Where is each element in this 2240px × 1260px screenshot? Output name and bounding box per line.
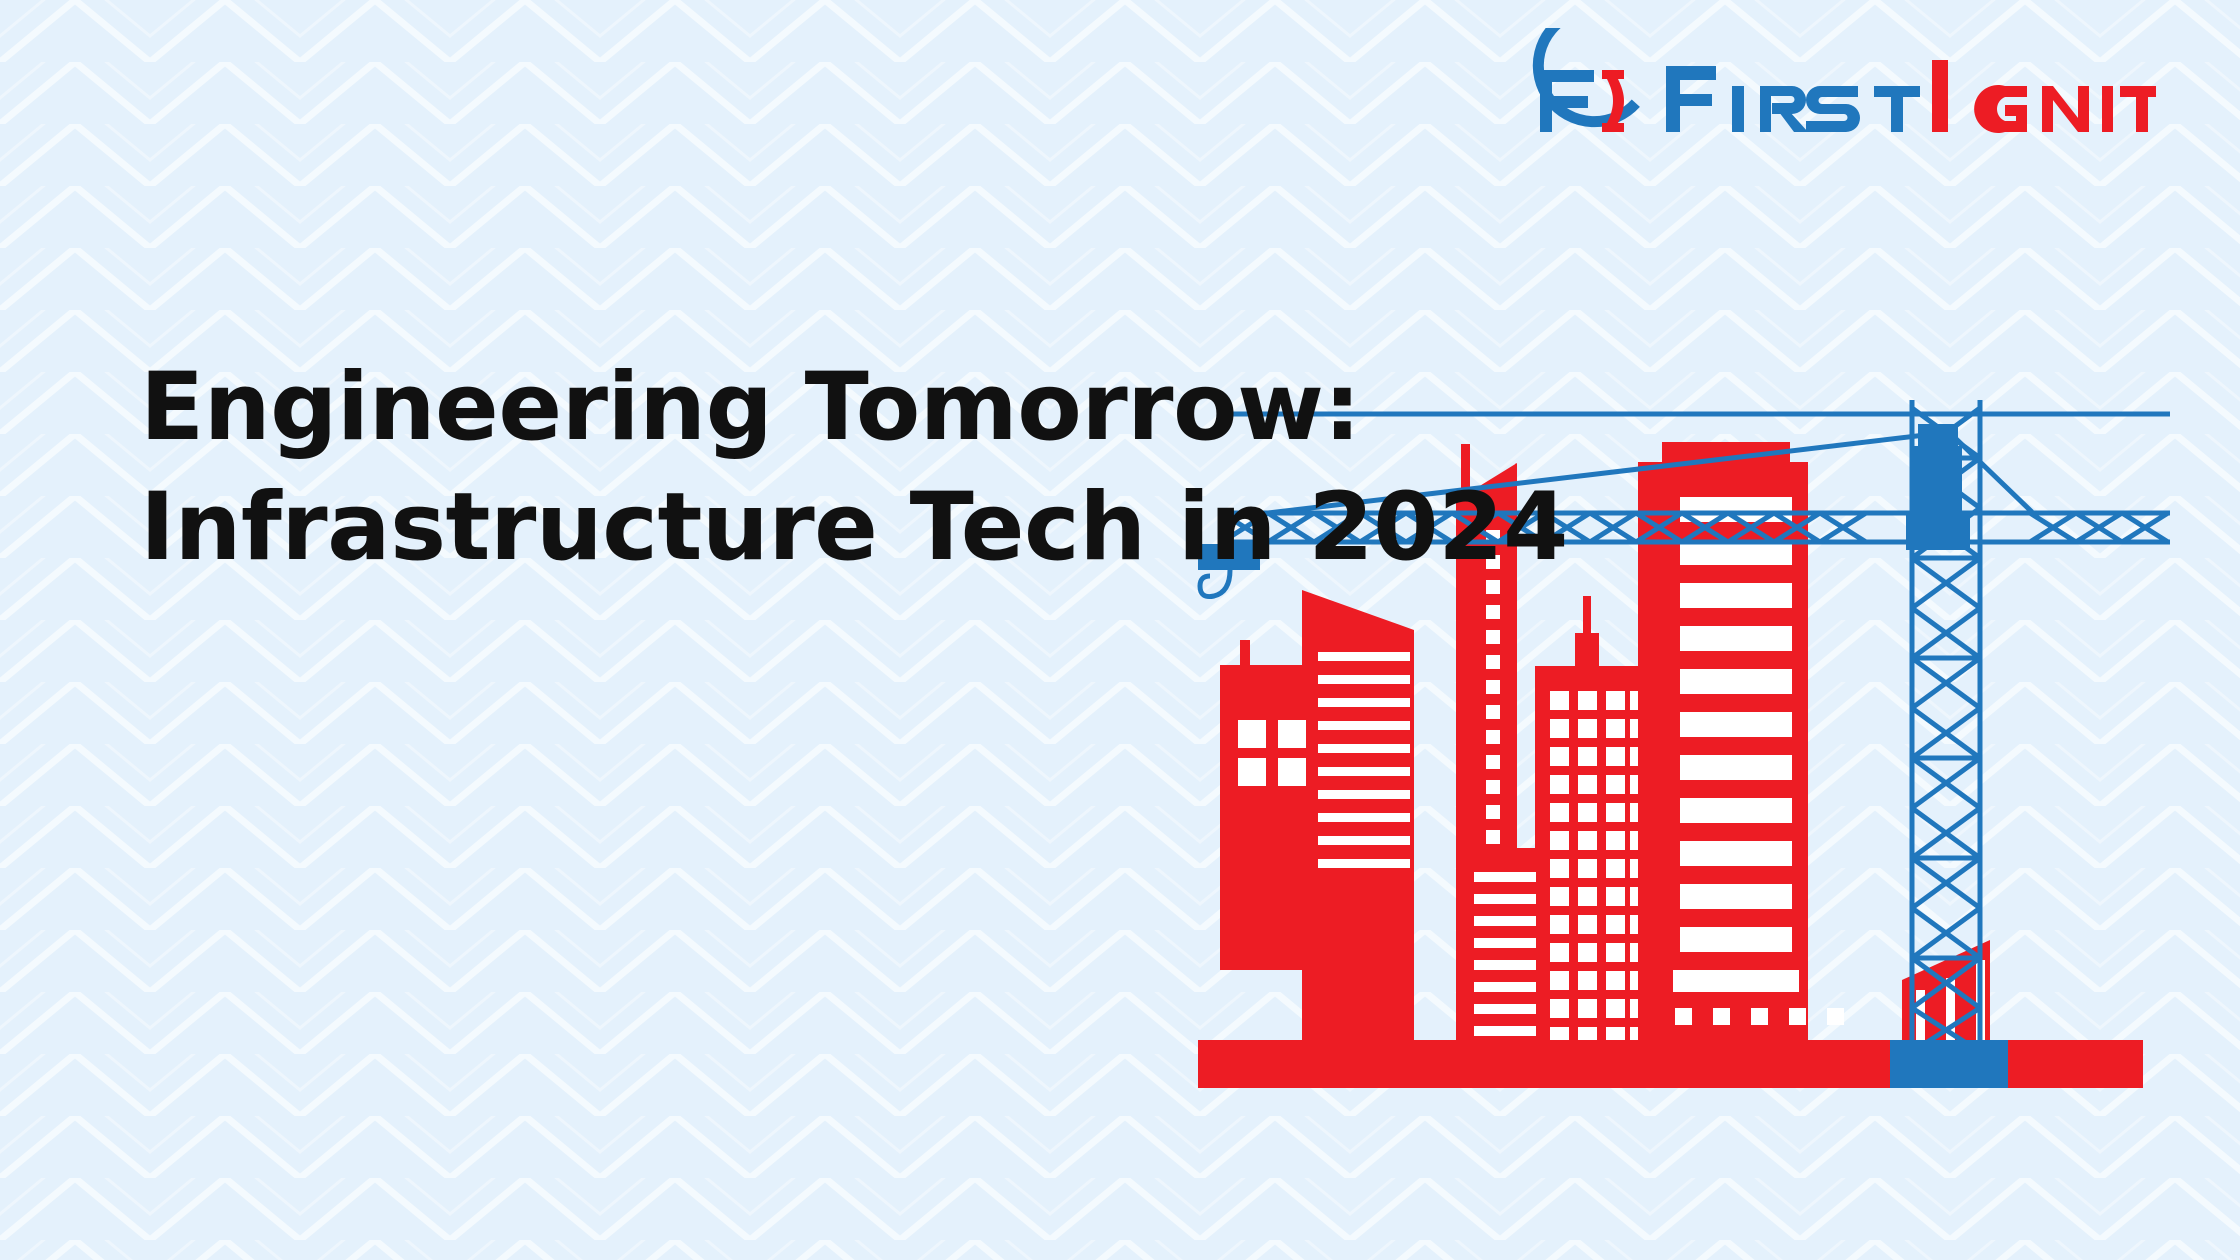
- grid-window-tower: [1535, 596, 1642, 1060]
- page-title: Engineering Tomorrow: Infrastructure Tec…: [140, 348, 1160, 589]
- small-striped-block: [1468, 848, 1540, 1060]
- striped-low-building: [1302, 590, 1414, 1060]
- logo-word-first: [1666, 66, 1920, 132]
- logo-word-ignite: [1932, 60, 2156, 133]
- crane-base: [1890, 1040, 2008, 1088]
- small-house: [1220, 640, 1310, 970]
- headline-line-1: Engineering Tomorrow:: [140, 348, 1160, 468]
- headline-line-2: Infrastructure Tech in 2024: [140, 468, 1160, 588]
- firstignite-logo[interactable]: [1496, 28, 2156, 153]
- banner-canvas: Engineering Tomorrow: Infrastructure Tec…: [0, 0, 2240, 1260]
